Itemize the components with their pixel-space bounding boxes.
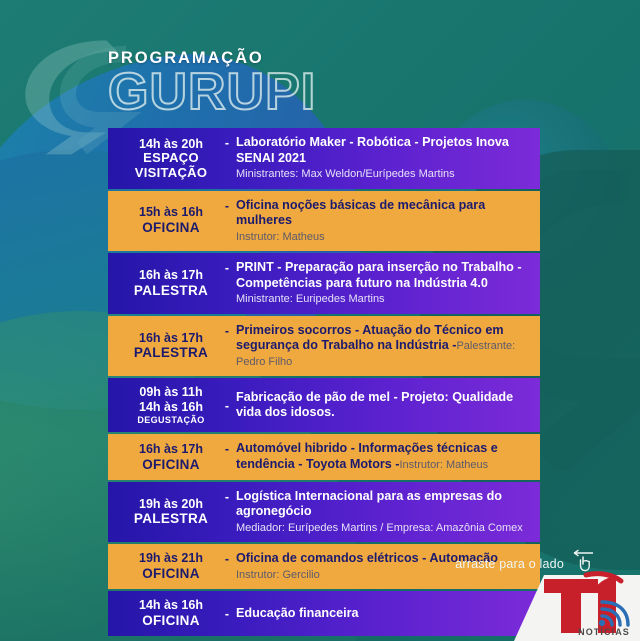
schedule-row-kind: OFICINA [122, 566, 220, 582]
schedule-row-title: Automóvel hibrido - Informações técnicas… [236, 441, 530, 472]
schedule-row-kind: ESPAÇO [122, 151, 220, 165]
schedule-row-kind-line2: VISITAÇÃO [122, 166, 220, 180]
schedule-row-kind: PALESTRA [122, 283, 220, 299]
schedule-row-time: 16h às 17h [122, 442, 220, 457]
schedule-row-time-block: 09h às 11h14h às 16hDEGUSTAÇÃO [122, 385, 220, 425]
schedule-row-dash: - [220, 136, 234, 150]
schedule-row-subtitle: Mediador: Eurípedes Martins / Empresa: A… [236, 521, 530, 535]
schedule-row: 14h às 16hOFICINA-Educação financeira [108, 591, 540, 636]
schedule-row-title: Logística Internacional para as empresas… [236, 489, 530, 520]
schedule-row-time: 19h às 20h [122, 497, 220, 512]
schedule-row: 16h às 17hOFICINA-Automóvel hibrido - In… [108, 434, 540, 479]
schedule-row-subtitle: Palestrante: Pedro Filho [236, 340, 515, 368]
brand-sub-text: NOTÍCIAS [578, 627, 630, 637]
schedule-row-body: PRINT - Preparação para inserção no Trab… [234, 260, 530, 307]
schedule-row-kind: OFICINA [122, 613, 220, 629]
schedule-row-time: 15h às 16h [122, 205, 220, 220]
schedule-row-dash: - [220, 199, 234, 213]
schedule-row-time-block: 19h às 21hOFICINA [122, 551, 220, 582]
schedule-row-subtitle: Instrutor: Matheus [400, 459, 489, 471]
schedule-row-time: 14h às 16h [122, 598, 220, 613]
schedule-row-time-block: 16h às 17hPALESTRA [122, 268, 220, 299]
schedule-row-kind: PALESTRA [122, 511, 220, 527]
schedule-row: 16h às 17hPALESTRA-Primeiros socorros - … [108, 316, 540, 377]
schedule-row-time: 16h às 17h [122, 331, 220, 346]
schedule-row-time: 16h às 17h [122, 268, 220, 283]
schedule-row-body: Laboratório Maker - Robótica - Projetos … [234, 135, 530, 182]
schedule-row: 09h às 11h14h às 16hDEGUSTAÇÃO-Fabricaçã… [108, 378, 540, 432]
schedule-row: 19h às 20hPALESTRA-Logística Internacion… [108, 482, 540, 543]
schedule-row-body: Primeiros socorros - Atuação do Técnico … [234, 323, 530, 370]
schedule-row: 16h às 17hPALESTRA-PRINT - Preparação pa… [108, 253, 540, 314]
header-city: GURUPI [108, 65, 316, 120]
schedule-row-dash: - [220, 261, 234, 275]
schedule-row: 14h às 20hESPAÇOVISITAÇÃO-Laboratório Ma… [108, 128, 540, 189]
schedule-row-dash: - [220, 442, 234, 456]
schedule-row-kind: OFICINA [122, 220, 220, 236]
schedule-row-time: 14h às 20h [122, 137, 220, 152]
schedule-row-time-block: 19h às 20hPALESTRA [122, 497, 220, 528]
schedule-row-body: Fabricação de pão de mel - Projeto: Qual… [234, 390, 530, 421]
schedule-row-kind: OFICINA [122, 457, 220, 473]
schedule-row-kind: PALESTRA [122, 345, 220, 361]
schedule-row-subtitle: Ministrante: Euripedes Martins [236, 292, 530, 306]
schedule-row-title: Oficina noções básicas de mecânica para … [236, 198, 530, 229]
schedule-row-title: PRINT - Preparação para inserção no Trab… [236, 260, 530, 291]
schedule-row-time-block: 14h às 20hESPAÇOVISITAÇÃO [122, 137, 220, 180]
schedule-row-body: Logística Internacional para as empresas… [234, 489, 530, 536]
schedule-row-body: Oficina noções básicas de mecânica para … [234, 198, 530, 245]
schedule-row-title: Primeiros socorros - Atuação do Técnico … [236, 323, 530, 370]
schedule-row-time-block: 16h às 17hOFICINA [122, 442, 220, 473]
poster-header: PROGRAMAÇÃO GURUPI [108, 50, 316, 119]
schedule-row-dash: - [220, 552, 234, 566]
schedule-row-body: Automóvel hibrido - Informações técnicas… [234, 441, 530, 472]
schedule-row-title: Laboratório Maker - Robótica - Projetos … [236, 135, 530, 166]
program-poster: PROGRAMAÇÃO GURUPI 14h às 20hESPAÇOVISIT… [0, 0, 640, 641]
schedule-row-time: 09h às 11h [122, 385, 220, 400]
schedule-row-dash: - [220, 607, 234, 621]
schedule-row-subtitle: Instrutor: Matheus [236, 230, 530, 244]
schedule-row-dash: - [220, 490, 234, 504]
schedule-row-time: 19h às 21h [122, 551, 220, 566]
schedule-row-time-secondary: 14h às 16h [122, 400, 220, 415]
schedule-row: 15h às 16hOFICINA-Oficina noções básicas… [108, 191, 540, 252]
schedule-row-subtitle: Ministrantes: Max Weldon/Eurípedes Marti… [236, 167, 530, 181]
schedule-row-dash: - [220, 324, 234, 338]
schedule-row-title: Fabricação de pão de mel - Projeto: Qual… [236, 390, 530, 421]
schedule-row-time-block: 14h às 16hOFICINA [122, 598, 220, 629]
schedule-row-dash: - [220, 399, 234, 413]
schedule-row-kind: DEGUSTAÇÃO [122, 415, 220, 426]
schedule-row-time-block: 16h às 17hPALESTRA [122, 331, 220, 362]
schedule-row-time-block: 15h às 16hOFICINA [122, 205, 220, 236]
brand-logo-t1-noticias: NOTÍCIAS [480, 569, 640, 641]
